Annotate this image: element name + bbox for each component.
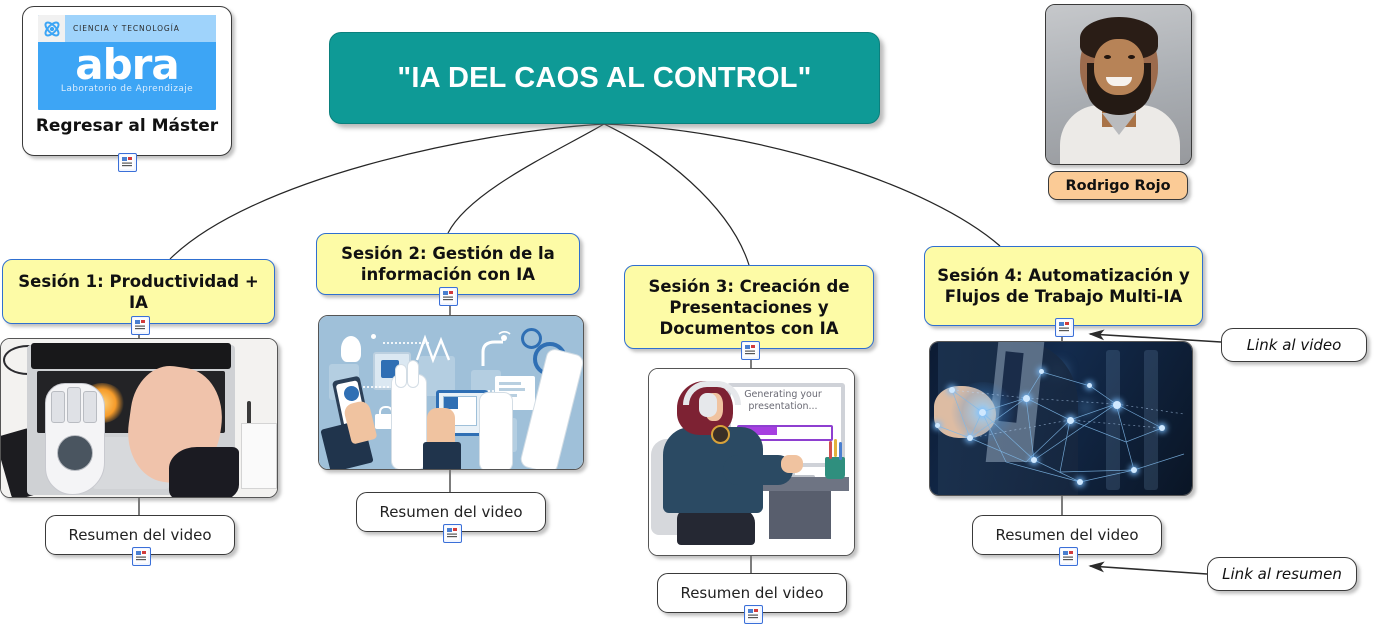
- session-3-title-box[interactable]: Sesión 3: Creación de Presentaciones y D…: [624, 265, 874, 349]
- abra-logo: CIENCIA Y TECNOLOGÍA abra Laboratorio de…: [38, 15, 216, 110]
- session-4-title: Sesión 4: Automatización y Flujos de Tra…: [925, 265, 1202, 307]
- back-to-master-label: Regresar al Máster: [33, 116, 221, 136]
- session-2-title: Sesión 2: Gestión de la información con …: [317, 243, 579, 285]
- session-1-title: Sesión 1: Productividad + IA: [3, 271, 274, 313]
- logo-wrapper: CIENCIA Y TECNOLOGÍA abra Laboratorio de…: [23, 7, 231, 136]
- presenter-name: Rodrigo Rojo: [1065, 178, 1170, 194]
- logo-tagline: CIENCIA Y TECNOLOGÍA: [65, 24, 180, 33]
- session-2-summary-label: Resumen del video: [379, 503, 522, 521]
- session-3-title: Sesión 3: Creación de Presentaciones y D…: [625, 276, 873, 339]
- note-icon[interactable]: [1055, 318, 1074, 337]
- session-3-screen-text: Generating your presentation...: [733, 389, 833, 413]
- callout-link-al-video-label: Link al video: [1247, 336, 1342, 354]
- note-icon[interactable]: [1059, 547, 1078, 566]
- note-icon[interactable]: [744, 605, 763, 624]
- session-2-image[interactable]: [318, 315, 584, 470]
- logo-subtitle: Laboratorio de Aprendizaje: [38, 84, 216, 94]
- session-2-summary-box[interactable]: Resumen del video: [356, 492, 546, 532]
- callout-link-al-resumen-label: Link al resumen: [1222, 565, 1342, 583]
- session-3-image[interactable]: Generating your presentation...: [648, 368, 855, 556]
- logo-header-strip: CIENCIA Y TECNOLOGÍA: [38, 15, 216, 42]
- note-icon[interactable]: [741, 341, 760, 360]
- session-1-title-box[interactable]: Sesión 1: Productividad + IA: [2, 259, 275, 324]
- session-2-title-box[interactable]: Sesión 2: Gestión de la información con …: [316, 233, 580, 295]
- note-icon[interactable]: [131, 316, 150, 335]
- note-icon[interactable]: [118, 153, 137, 172]
- presenter-photo: [1045, 4, 1192, 165]
- session-4-title-box[interactable]: Sesión 4: Automatización y Flujos de Tra…: [924, 246, 1203, 326]
- callout-link-al-resumen: Link al resumen: [1207, 557, 1357, 591]
- session-4-summary-box[interactable]: Resumen del video: [972, 515, 1162, 555]
- atom-icon: [38, 15, 65, 42]
- page-title-text: "IA DEL CAOS AL CONTROL": [397, 62, 811, 95]
- logo-wordmark: abra: [38, 43, 216, 87]
- mindmap-canvas: CIENCIA Y TECNOLOGÍA abra Laboratorio de…: [0, 0, 1374, 626]
- session-1-summary-box[interactable]: Resumen del video: [45, 515, 235, 555]
- note-icon[interactable]: [439, 287, 458, 306]
- session-1-image[interactable]: [0, 338, 278, 498]
- callout-link-al-video: Link al video: [1221, 328, 1367, 362]
- session-4-summary-label: Resumen del video: [995, 526, 1138, 544]
- session-4-image[interactable]: [929, 341, 1193, 496]
- avatar: [1046, 5, 1191, 164]
- note-icon[interactable]: [132, 547, 151, 566]
- back-to-master-card[interactable]: CIENCIA Y TECNOLOGÍA abra Laboratorio de…: [22, 6, 232, 156]
- session-3-summary-box[interactable]: Resumen del video: [657, 573, 847, 613]
- session-1-summary-label: Resumen del video: [68, 526, 211, 544]
- page-title[interactable]: "IA DEL CAOS AL CONTROL": [329, 32, 880, 124]
- note-icon[interactable]: [443, 524, 462, 543]
- presenter-name-badge: Rodrigo Rojo: [1048, 171, 1188, 200]
- session-3-summary-label: Resumen del video: [680, 584, 823, 602]
